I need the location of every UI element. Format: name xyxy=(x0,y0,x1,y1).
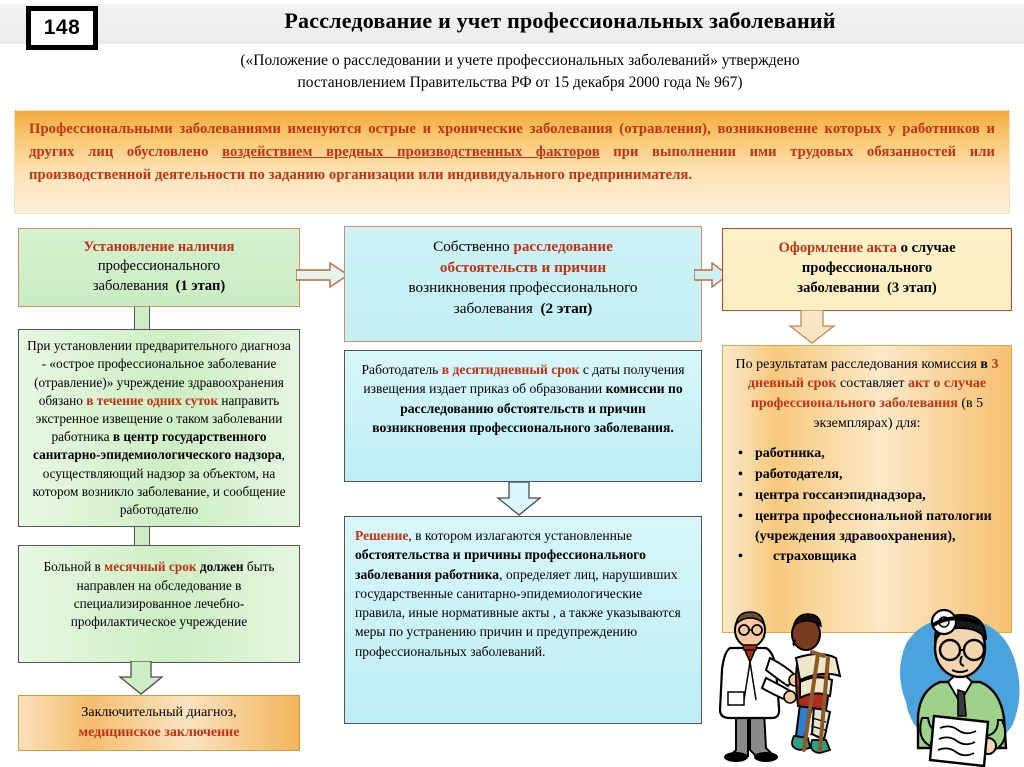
stage-1-connector-2 xyxy=(18,527,300,545)
stage-2-title-line-3: возникновения профессионального xyxy=(355,278,691,299)
s1b2-red1: месячный срок xyxy=(104,559,196,574)
bullet-icon: • xyxy=(738,444,743,464)
arrow-down-icon xyxy=(118,661,164,695)
stage-1-box-1[interactable]: При установлении предварительного диагно… xyxy=(18,329,300,527)
subtitle: («Положение о расследовании и учете проф… xyxy=(70,50,970,95)
stage-1-title-line-2: заболевания (1 этап) xyxy=(27,277,291,296)
stage-1-title-line-1: профессионального xyxy=(27,257,291,276)
definition-underlined: воздействием вредных производственных фа… xyxy=(222,144,600,160)
stage-1-header-box[interactable]: Установление наличия профессионального з… xyxy=(18,228,300,307)
s1b2-t1: Больной в xyxy=(44,559,105,574)
list-item: •центра госсанэпиднадзора, xyxy=(733,486,1001,506)
s3b1-bold-pre: в xyxy=(980,357,991,372)
s2b2-red1: Решение xyxy=(355,528,408,543)
stage-3-title-line-2: профессионального xyxy=(731,259,1003,279)
list-item: •страховщика xyxy=(733,547,1001,567)
stage-3-title-red: Оформление акта xyxy=(778,240,897,256)
bullet-icon: • xyxy=(738,465,743,485)
list-item: •работодателя, xyxy=(733,465,1001,485)
stage-1-box-3[interactable]: Заключительный диагноз, медицинское закл… xyxy=(18,695,300,751)
bullet-icon: • xyxy=(738,486,743,506)
stage-1-arrow-down-1 xyxy=(18,663,300,695)
stage-3-header-box[interactable]: Оформление акта о случае профессионально… xyxy=(722,228,1012,311)
s3b1-t2: составляет xyxy=(836,376,907,391)
stage-3-title-line-3: заболевании (3 этап) xyxy=(731,279,1003,299)
stage-3-stage-label: (3 этап) xyxy=(887,280,937,296)
stage-2-arrow-down-1 xyxy=(344,482,702,516)
subtitle-line-1: («Положение о расследовании и учете проф… xyxy=(70,50,970,72)
stage-3-box-1[interactable]: По результатам расследования комиссия в … xyxy=(722,345,1012,633)
s2b1-t1: Работодатель xyxy=(362,362,442,377)
subtitle-line-2: постановлением Правительства РФ от 15 де… xyxy=(70,72,970,94)
definition-text: Профессиональными заболеваниями именуютс… xyxy=(29,118,995,187)
s1b2-bold1: должен xyxy=(197,559,244,574)
arrow-down-icon xyxy=(788,310,836,344)
stage-2-gap-1 xyxy=(344,342,702,350)
list-item: •работника, xyxy=(733,444,1001,464)
stage-1-stage-label: (1 этап) xyxy=(176,278,226,294)
page-title: Расследование и учет профессиональных за… xyxy=(120,8,1000,34)
recipients-list: •работника, •работодателя, •центра госса… xyxy=(733,444,1001,567)
stage-3-column: Оформление акта о случае профессионально… xyxy=(722,228,1012,633)
bullet-icon: • xyxy=(738,547,743,567)
s2b1-red1: в десятидневный срок xyxy=(442,362,580,377)
stage-2-column: Собственно расследование обстоятельств и… xyxy=(344,226,702,724)
s2b2-t1: , в котором излагаются установленные xyxy=(408,528,632,543)
stage-1-box-2[interactable]: Больной в месячный срок должен быть напр… xyxy=(18,545,300,663)
doctor-examining-patient-on-crutches-illustration xyxy=(700,600,880,767)
stage-2-header-box[interactable]: Собственно расследование обстоятельств и… xyxy=(344,226,702,342)
bullet-icon: • xyxy=(738,507,743,527)
stage-2-title-red-1: расследование xyxy=(513,238,613,255)
vertical-connector xyxy=(134,527,150,545)
stage-3-title-line-1: Оформление акта о случае xyxy=(731,239,1003,259)
stage-2-stage-label: (2 этап) xyxy=(540,300,592,317)
list-item: •центра профессиональной патологии (учре… xyxy=(733,507,1001,547)
stage-3-arrow-down-1 xyxy=(722,311,1012,345)
stage-2-box-2[interactable]: Решение, в котором излагаются установлен… xyxy=(344,516,702,724)
stage-1-column: Установление наличия профессионального з… xyxy=(18,228,300,751)
s1b1-red1: в течение одних суток xyxy=(86,393,218,408)
s3b1-t1: По результатам расследования комиссия xyxy=(736,357,981,372)
doctor-reading-report-illustration xyxy=(888,598,1024,767)
s1b3-line-1: Заключительный диагноз, xyxy=(27,703,291,723)
definition-box: Профессиональными заболеваниями именуютс… xyxy=(14,110,1010,214)
page-number-badge: 148 xyxy=(26,6,98,50)
vertical-connector xyxy=(134,307,150,329)
stage-2-title-red-2: обстоятельств и причин xyxy=(355,258,691,279)
arrow-down-icon xyxy=(496,482,542,516)
s1b3-line-2: медицинское заключение xyxy=(27,723,291,743)
stage-1-title-red: Установление наличия xyxy=(27,238,291,257)
stage-2-title-line-1: Собственно расследование xyxy=(355,237,691,258)
stage-2-box-1[interactable]: Работодатель в десятидневный срок с даты… xyxy=(344,350,702,482)
stage-3-box-1-text: По результатам расследования комиссия в … xyxy=(733,355,1001,435)
stage-2-title-line-4: заболевания (2 этап) xyxy=(355,299,691,320)
stage-1-connector-1 xyxy=(18,307,300,329)
arrow-right-stage1-to-stage2-icon xyxy=(296,262,350,288)
